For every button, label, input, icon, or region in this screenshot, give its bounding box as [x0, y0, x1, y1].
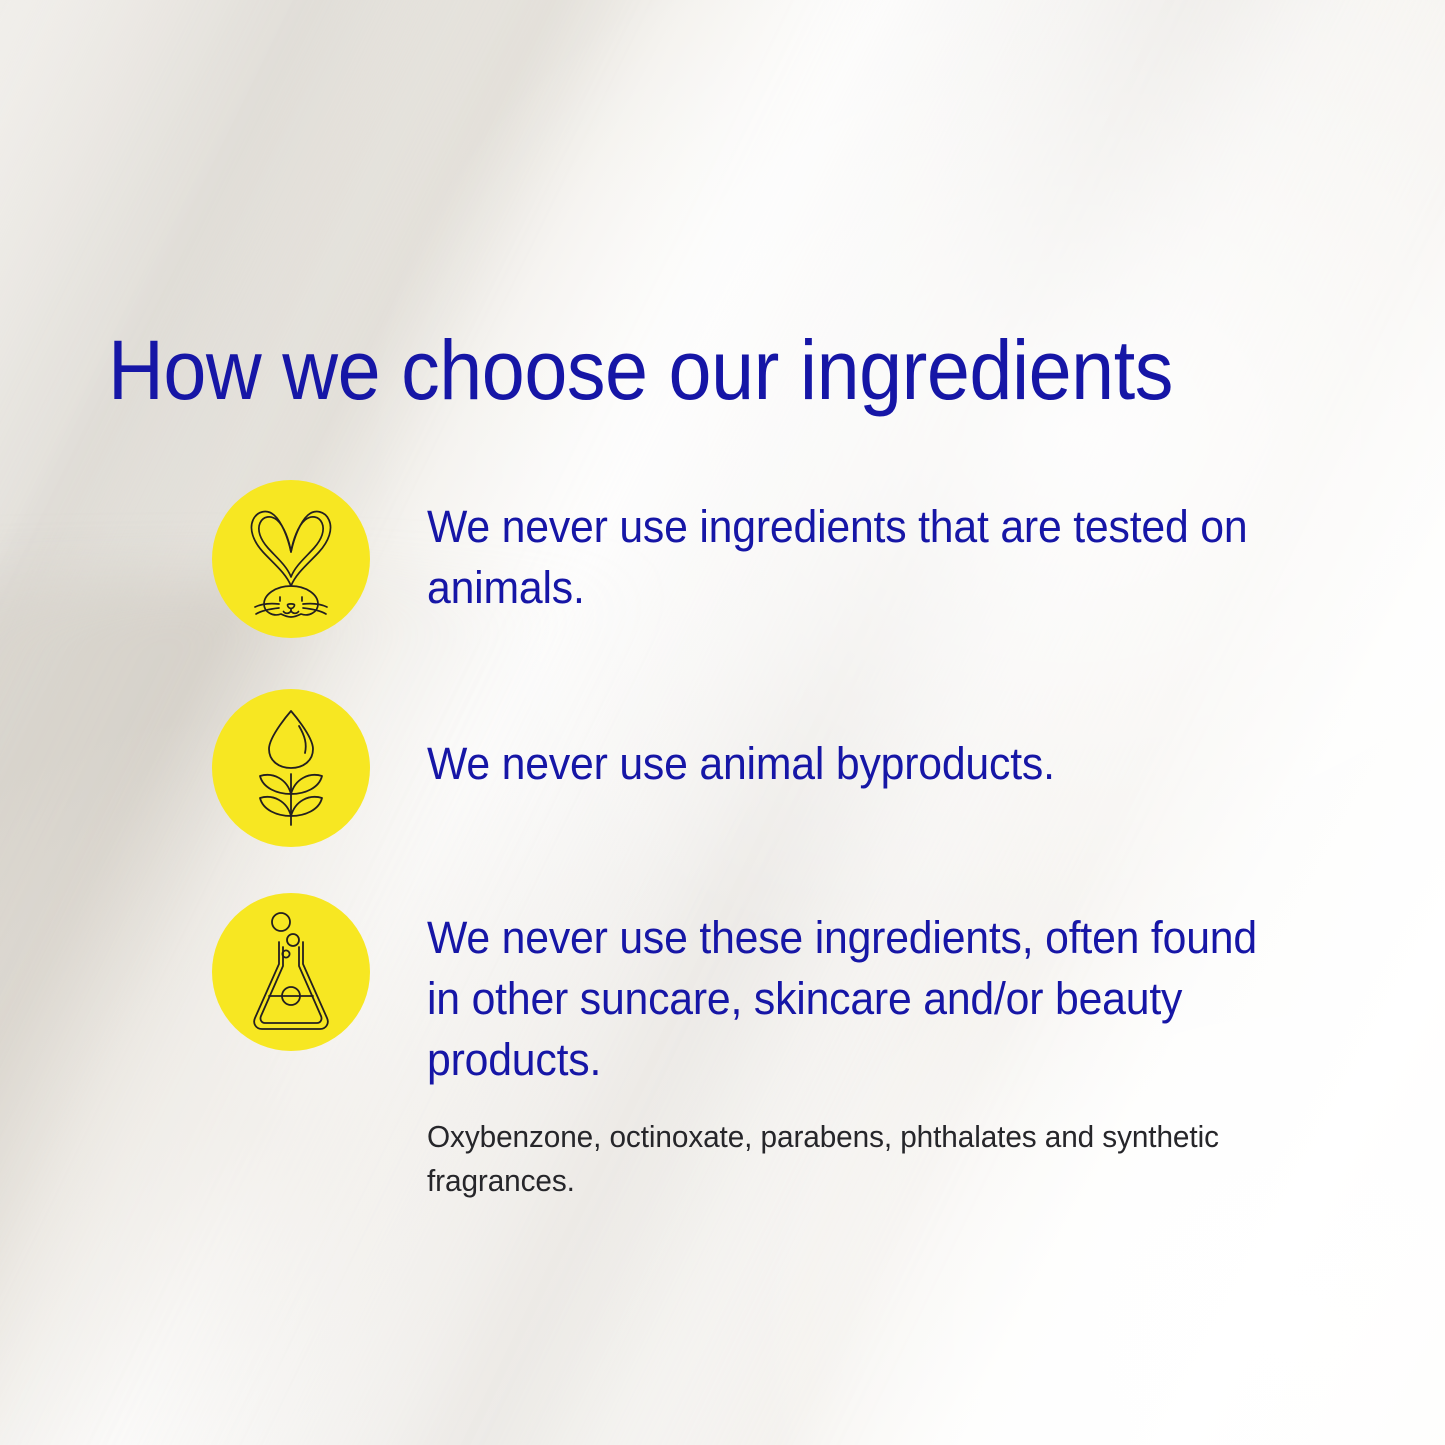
flask-bubbles-icon	[212, 893, 370, 1051]
list-item-text: We never use these ingredients, often fo…	[427, 907, 1263, 1091]
page-title: How we choose our ingredients	[108, 328, 1173, 414]
list-item-body: We never use animal byproducts.	[427, 683, 1088, 794]
benefits-list: We never use ingredients that are tested…	[0, 470, 1445, 1203]
bunny-heart-ears-icon	[212, 480, 370, 638]
list-item-text: We never use animal byproducts.	[427, 733, 1055, 794]
list-item: We never use animal byproducts.	[0, 683, 1445, 847]
plant-droplet-icon	[212, 689, 370, 847]
list-item-body: We never use these ingredients, often fo…	[427, 889, 1307, 1203]
list-item-text: We never use ingredients that are tested…	[427, 496, 1263, 618]
content-layer: How we choose our ingredients	[0, 0, 1445, 1445]
list-item-body: We never use ingredients that are tested…	[427, 470, 1307, 618]
ingredients-info-card: How we choose our ingredients	[0, 0, 1445, 1445]
list-item-subtext: Oxybenzone, octinoxate, parabens, phthal…	[427, 1115, 1272, 1203]
list-item: We never use these ingredients, often fo…	[0, 889, 1445, 1203]
list-item: We never use ingredients that are tested…	[0, 470, 1445, 638]
